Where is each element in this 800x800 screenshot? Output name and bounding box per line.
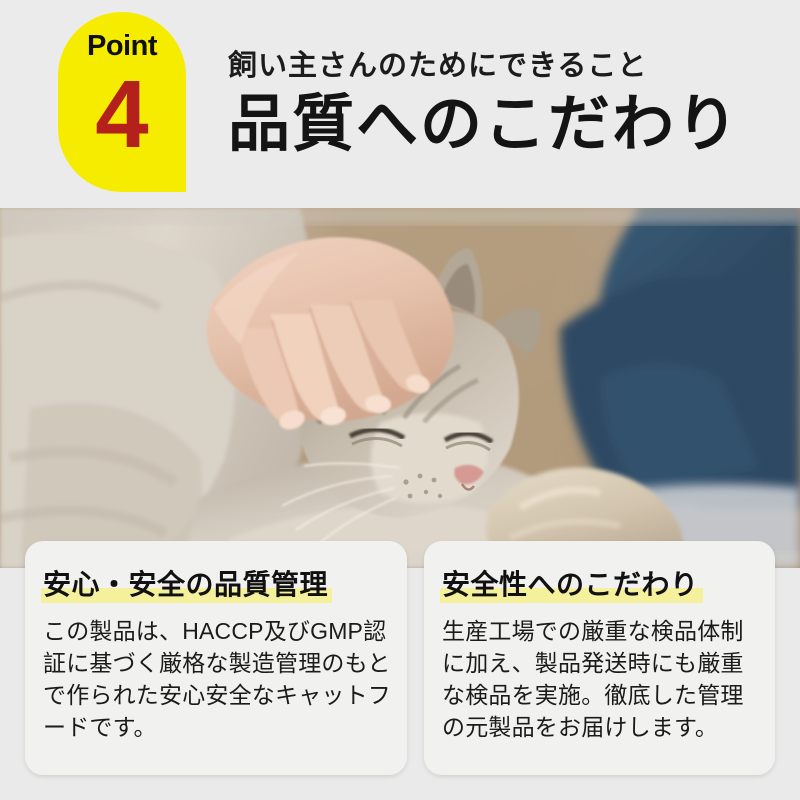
page-header: Point 4 飼い主さんのためにできること 品質へのこだわり — [0, 0, 800, 208]
card-body: 生産工場での厳重な検品体制に加え、製品発送時にも厳重な検品を実施。徹底した管理の… — [442, 615, 763, 743]
cat-petting-illustration — [0, 208, 800, 568]
point-badge: Point 4 — [58, 12, 186, 192]
header-subtitle: 飼い主さんのためにできること — [228, 42, 647, 84]
promo-page: Point 4 飼い主さんのためにできること 品質へのこだわり — [0, 0, 800, 800]
point-badge-label: Point — [58, 30, 186, 63]
info-card-safety-commitment: 安全性へのこだわり 生産工場での厳重な検品体制に加え、製品発送時にも厳重な検品を… — [424, 541, 775, 775]
card-body: この製品は、HACCP及びGMP認証に基づく厳格な製造管理のもとで作られた安心安… — [43, 615, 391, 743]
card-title-text: 安全性へのこだわり — [442, 569, 699, 600]
point-badge-number: 4 — [58, 60, 186, 170]
info-card-quality-control: 安心・安全の品質管理 この製品は、HACCP及びGMP認証に基づく厳格な製造管理… — [25, 541, 407, 775]
card-title: 安全性へのこだわり — [442, 563, 699, 603]
page-title: 品質へのこだわり — [228, 90, 740, 160]
card-title: 安心・安全の品質管理 — [43, 563, 328, 603]
hero-photo — [0, 208, 800, 568]
card-title-text: 安心・安全の品質管理 — [43, 569, 328, 600]
